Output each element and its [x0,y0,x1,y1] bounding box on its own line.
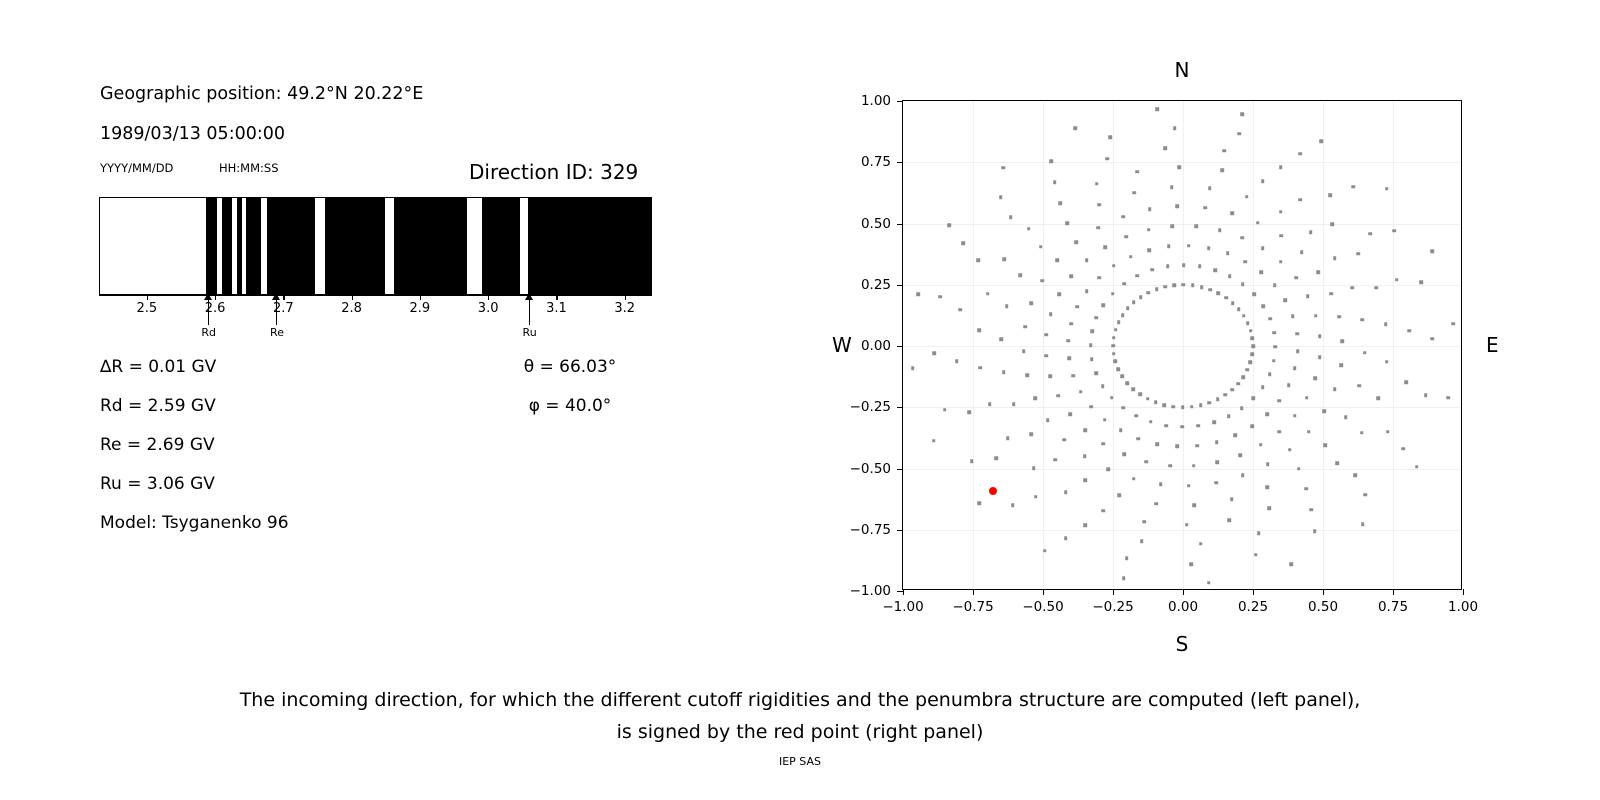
direction-point [1261,385,1265,389]
direction-point [1164,146,1168,150]
direction-point [932,439,936,443]
direction-point [1256,221,1260,225]
direction-point [1250,424,1254,428]
direction-point [1197,424,1201,428]
direction-point [1430,250,1434,254]
direction-point [1121,313,1125,317]
parameter-delta-R: ∆R = 0.01 GV [100,357,216,377]
figure-caption: The incoming direction, for which the di… [0,684,1600,748]
direction-point [1251,353,1255,357]
x-axis-tick-label: 0.00 [1168,599,1198,615]
direction-point [1122,453,1126,457]
direction-point [1068,412,1072,416]
penumbra-axis-tick-label: 2.8 [341,301,362,316]
direction-point [1309,231,1313,235]
direction-point [955,360,959,364]
direction-point [1134,414,1138,418]
direction-point [1089,344,1093,348]
direction-point [1287,383,1291,387]
direction-point [1112,264,1116,268]
direction-point [1124,235,1128,239]
direction-point [1154,502,1158,506]
direction-point [1106,157,1110,161]
direction-point [1039,245,1043,249]
direction-point [1386,430,1390,434]
direction-point [1129,255,1133,259]
direction-point [1304,487,1308,491]
penumbra-axis-tick [625,295,626,300]
direction-point [1155,108,1159,112]
direction-point [999,337,1003,341]
y-axis-tick [897,162,903,163]
arrow-head [272,293,280,300]
direction-point [1063,438,1067,442]
direction-point [1170,185,1174,189]
direction-point [1259,443,1263,447]
direction-point [1094,371,1098,375]
direction-point [1217,291,1221,295]
gridline-vertical [1393,101,1394,589]
direction-point [1297,467,1301,471]
penumbra-band [246,198,261,294]
direction-point [1103,245,1107,249]
direction-point [1237,132,1241,136]
direction-point [1006,436,1010,440]
y-axis-tick-label: −0.25 [850,399,891,415]
direction-point [1067,339,1071,343]
direction-point [1252,397,1256,401]
direction-point [1404,380,1408,384]
y-axis-tick [897,530,903,531]
direction-point [1032,466,1036,470]
direction-point [1102,303,1106,307]
direction-point [1125,557,1129,561]
direction-point [1114,328,1118,332]
direction-point [1272,359,1276,363]
direction-point [1274,345,1278,349]
angle-theta: θ = 66.03° [524,357,617,377]
direction-point [1207,581,1211,585]
direction-point [1173,283,1177,287]
direction-point [1159,483,1163,487]
penumbra-axis-line [99,295,652,296]
direction-point [1055,258,1059,262]
direction-point [1149,420,1153,424]
direction-point [978,501,982,505]
direction-point [1054,458,1058,462]
direction-point [1324,443,1328,447]
direction-point [1246,321,1250,325]
direction-point [1109,136,1113,140]
direction-point [1268,372,1272,376]
direction-point [1023,325,1027,329]
direction-point [958,308,962,312]
x-axis-tick [973,589,974,595]
direction-point [1424,393,1428,397]
direction-point [1296,349,1300,353]
direction-point [943,408,947,412]
direction-point [1279,165,1283,169]
penumbra-bar-chart [99,197,652,295]
direction-point [1249,329,1253,333]
direction-point [1011,504,1015,508]
direction-point [1182,283,1186,287]
y-axis-tick-label: 0.25 [861,277,891,293]
rigidity-marker-arrow-ru: Ru [523,293,537,339]
direction-point [1029,301,1033,305]
direction-point [1446,396,1450,400]
direction-point [1083,428,1087,432]
direction-point [1356,252,1360,256]
direction-point [1101,509,1105,513]
penumbra-axis-tick [420,295,421,300]
direction-point [1002,257,1006,261]
direction-point [1200,285,1204,289]
direction-point [1154,401,1158,405]
direction-point [1230,211,1234,215]
direction-point [1226,252,1230,256]
direction-point [1207,246,1211,250]
direction-point [1187,484,1191,488]
direction-point [1190,562,1194,566]
direction-point [1118,493,1122,497]
penumbra-axis-tick [147,295,148,300]
direction-point [1351,185,1355,189]
selected-direction-point[interactable] [989,487,997,495]
y-axis-tick-label: 1.00 [861,93,891,109]
rigidity-marker-arrow-re: Re [270,293,284,339]
direction-point [1067,357,1071,361]
direction-point [1027,227,1031,231]
direction-point [1322,410,1326,414]
direction-point [1040,279,1044,283]
footer-credit: IEP SAS [0,755,1600,768]
gridline-vertical [1323,101,1324,589]
direction-point [978,366,982,370]
y-axis-tick [897,469,903,470]
caption-line-1: The incoming direction, for which the di… [0,684,1600,716]
compass-label-south: S [1176,632,1189,656]
direction-point [1071,374,1075,378]
time-format-hint: HH:MM:SS [219,161,279,175]
direction-point [1316,270,1320,274]
direction-point [1194,225,1198,229]
direction-point [1262,304,1266,308]
penumbra-band [267,198,315,294]
penumbra-axis-tick-label: 3.2 [614,301,635,316]
direction-point [1167,245,1171,249]
penumbra-band [237,198,242,294]
direction-point [1335,462,1339,466]
direction-point [1246,368,1250,372]
y-axis-tick-label: −1.00 [850,583,891,599]
direction-point [1341,339,1345,343]
caption-line-2: is signed by the red point (right panel) [0,716,1600,748]
x-axis-tick [1323,589,1324,595]
direction-point [994,457,998,461]
direction-point [1319,140,1323,144]
direction-point [1195,444,1199,448]
direction-point [1212,420,1216,424]
x-axis-tick-label: −1.00 [882,599,923,615]
direction-point [1095,182,1099,186]
direction-point [1452,322,1456,326]
direction-point [1415,465,1419,469]
direction-point [1261,180,1265,184]
direction-point [1430,337,1434,341]
direction-point [1237,307,1241,311]
direction-point [1097,276,1101,280]
direction-point [1125,381,1129,385]
direction-point [1363,351,1367,355]
direction-point [1173,126,1177,130]
direction-point [1074,240,1078,244]
direction-point [1122,282,1126,286]
direction-point [1150,268,1154,272]
direction-point [1192,503,1196,507]
direction-point [1064,491,1068,495]
direction-point [1178,165,1182,169]
direction-point [1142,520,1146,524]
direction-point [1214,481,1218,485]
direction-point [1043,549,1047,553]
direction-point [1122,576,1126,580]
direction-point [1331,222,1335,226]
direction-point [977,259,981,263]
x-axis-tick-label: −0.50 [1022,599,1063,615]
direction-point [1132,301,1136,305]
direction-point [1176,205,1180,209]
direction-point [1056,394,1060,398]
direction-point [1022,349,1026,353]
direction-point [1240,236,1244,240]
direction-point [1075,305,1079,309]
direction-point [1294,276,1298,280]
direction-point [1216,460,1220,464]
direction-point [1288,448,1292,452]
direction-point [1306,294,1310,298]
direction-point [1112,336,1116,340]
direction-point [1110,396,1114,400]
direction-point [1147,228,1151,232]
direction-point [1298,152,1302,156]
direction-point [1251,337,1255,341]
parameter-Ru: Ru = 3.06 GV [100,474,215,494]
parameter-Re: Re = 2.69 GV [100,435,215,455]
datetime-text: 1989/03/13 05:00:00 [100,124,285,144]
y-axis-tick [897,224,903,225]
direction-point [1215,440,1219,444]
direction-point [1191,284,1195,288]
direction-point [1254,553,1258,557]
direction-point [1223,149,1227,153]
direction-point [1333,387,1337,391]
direction-point [1407,329,1411,333]
compass-label-east: E [1486,333,1499,357]
direction-point [1249,360,1253,364]
direction-point [1279,260,1283,264]
direction-point [1049,312,1053,316]
x-axis-tick [903,589,904,595]
direction-point [1117,320,1121,324]
direction-point [1164,285,1168,289]
y-axis-tick-label: 0.00 [861,338,891,354]
direction-point [1095,316,1099,320]
direction-point [1168,464,1172,468]
compass-label-west: W [832,333,852,357]
direction-point [1339,364,1343,368]
direction-point [1279,210,1283,214]
arrow-head [204,293,212,300]
direction-point [1295,332,1299,336]
direction-point [1002,371,1006,375]
direction-point [1242,314,1246,318]
direction-point [1395,278,1399,282]
direction-point [1140,539,1144,543]
direction-point [1252,293,1256,297]
direction-point [1266,463,1270,467]
direction-point [1216,397,1220,401]
x-axis-tick-label: 1.00 [1448,599,1478,615]
direction-point [1103,418,1107,422]
x-axis-tick-label: 0.25 [1238,599,1268,615]
direction-point [1044,354,1048,358]
penumbra-axis-tick [488,295,489,300]
direction-point [1049,159,1053,163]
direction-point [1131,387,1135,391]
direction-point [1001,166,1005,170]
direction-point [1241,474,1245,478]
direction-point [1064,537,1068,541]
direction-point [1277,430,1281,434]
direction-point [1106,468,1110,472]
direction-point [1083,479,1087,483]
direction-point [1223,393,1227,397]
direction-point [1318,356,1322,360]
gridline-horizontal [903,469,1461,470]
direction-point [1220,169,1224,173]
direction-point [1228,274,1232,278]
rigidity-marker-arrow-rd: Rd [202,293,216,339]
compass-label-north: N [1175,58,1190,82]
x-axis-tick [1253,589,1254,595]
direction-point [1126,307,1130,311]
direction-point [1293,414,1297,418]
penumbra-axis-tick [556,295,557,300]
direction-point [1289,562,1293,566]
direction-point [1298,198,1302,202]
direction-point [1190,405,1194,409]
direction-point [1121,215,1125,219]
direction-point [1420,281,1424,285]
direction-point [1029,432,1033,436]
penumbra-axis-tick-label: 2.9 [410,301,431,316]
direction-point [1165,424,1169,428]
direction-point [1181,405,1185,409]
y-axis-tick-label: 0.50 [861,216,891,232]
direction-point [1351,286,1355,290]
direction-point [1009,215,1013,219]
direction-point [1085,290,1089,294]
penumbra-band [222,198,232,294]
direction-point [1101,384,1105,388]
direction-point [1147,248,1151,252]
direction-point [932,352,936,356]
direction-point [1231,301,1235,305]
direction-point [1185,523,1189,527]
direction-point [1265,485,1269,489]
direction-point [1116,367,1120,371]
direction-point [1361,522,1365,526]
direction-point [1208,401,1212,405]
x-axis-tick [1393,589,1394,595]
direction-point [1090,358,1094,362]
direction-point [1005,304,1009,308]
direction-point [1272,331,1276,335]
direction-point [1384,322,1388,326]
direction-point [1012,403,1016,407]
direction-point [1385,360,1389,364]
direction-point [1079,390,1083,394]
direction-point [1227,518,1231,522]
direction-point [1333,256,1337,260]
direction-point [1155,287,1159,291]
gridline-vertical [1043,101,1044,589]
direction-point [1374,286,1378,290]
direction-point [1121,406,1125,410]
direction-point [1314,314,1318,318]
y-axis-tick-label: 0.75 [861,154,891,170]
direction-point [1033,397,1037,401]
direction-point [1337,315,1341,319]
direction-point [1242,375,1246,379]
angle-phi: φ = 40.0° [529,396,612,416]
direction-point [970,460,974,464]
direction-point [1187,244,1191,248]
direction-point [1083,523,1087,527]
gridline-horizontal [903,162,1461,163]
direction-point [1198,265,1202,269]
direction-point [1208,288,1212,292]
direction-point [1148,208,1152,212]
direction-point [1318,335,1322,339]
direction-point [999,195,1003,199]
direction-point [1236,382,1240,386]
direction-point [1293,367,1297,371]
direction-point [947,223,951,227]
y-axis-tick [897,407,903,408]
penumbra-band [325,198,385,294]
penumbra-axis-tick-label: 3.1 [546,301,567,316]
direction-point [1139,295,1143,299]
direction-point [1401,447,1405,451]
direction-point [1265,413,1269,417]
direction-point [1025,373,1029,377]
x-axis-tick [1463,589,1464,595]
gridline-horizontal [903,224,1461,225]
direction-point [1146,397,1150,401]
direction-point [1377,397,1381,401]
direction-point [1357,384,1361,388]
direction-point [1354,473,1358,477]
direction-point [1133,191,1137,195]
direction-point [1085,259,1089,263]
parameter-model: Model: Tsyganenko 96 [100,513,289,533]
direction-point [1057,293,1061,297]
gridline-vertical [1183,101,1184,589]
direction-point [1136,274,1140,278]
direction-point [1097,203,1101,207]
